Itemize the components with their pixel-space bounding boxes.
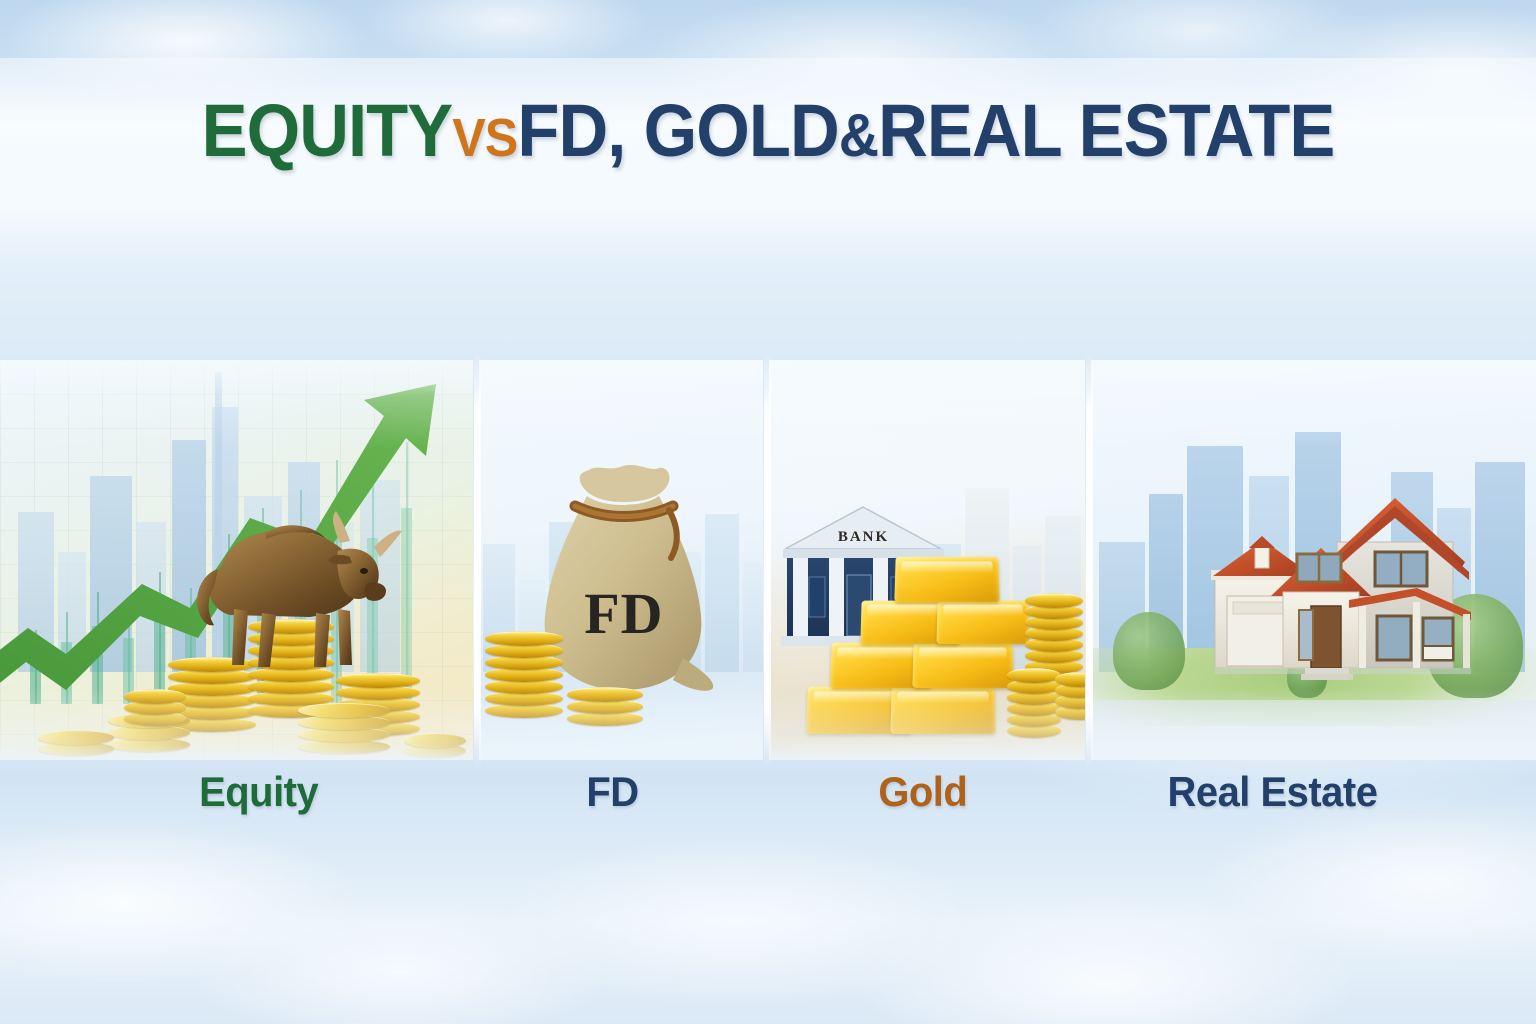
caption-real-estate: Real Estate [1168,768,1378,816]
title-word-equity: EQUITY [202,89,453,172]
panel-divider [1086,352,1093,768]
tree-icon [1113,612,1185,690]
panel-real-estate[interactable] [1091,360,1536,760]
infographic-canvas: EQUITYVSFD, GOLD&REAL ESTATE [0,0,1536,1024]
caption-gold: Gold [878,768,967,816]
title-word-vs: VS [452,108,517,168]
front-door [1311,606,1341,668]
panel-equity[interactable] [0,360,473,760]
panel-divider [474,352,481,768]
caption-equity: Equity [199,768,318,816]
title-word-real-estate: REAL ESTATE [878,89,1334,172]
panel-divider [764,352,771,768]
caption-fd: FD [586,768,638,816]
bull-icon [170,491,405,676]
title-word-fd-gold: FD, GOLD [517,89,838,172]
panel-gold[interactable]: BANK [769,360,1085,760]
page-title: EQUITYVSFD, GOLD&REAL ESTATE [54,88,1482,173]
panel-fd[interactable]: FD [479,360,763,760]
house-icon [1209,484,1477,702]
title-ampersand: & [839,102,878,169]
foreground-ground [1091,700,1536,760]
window [1377,616,1411,660]
panel-caption-row: Equity FD Gold Real Estate [0,768,1536,828]
